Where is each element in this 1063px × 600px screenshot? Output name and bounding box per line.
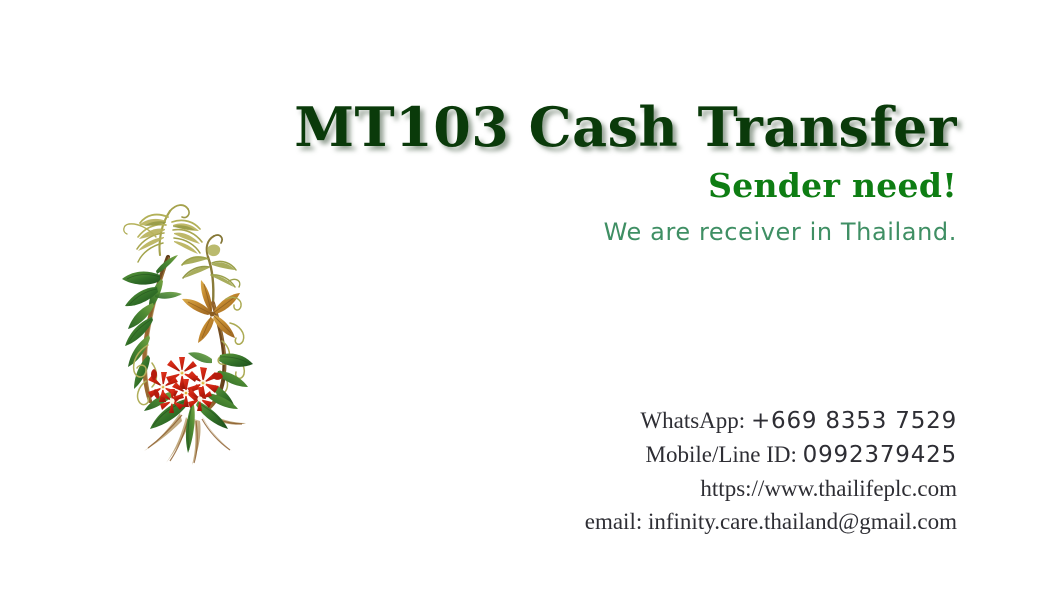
page-title: MT103 Cash Transfer [260, 96, 957, 158]
contact-line-website: https://www.thailifeplc.com [480, 472, 957, 505]
contact-details: WhatsApp: +669 8353 7529 Mobile/Line ID:… [480, 404, 957, 538]
whatsapp-number[interactable]: +669 8353 7529 [751, 408, 957, 434]
left-leaf-cluster [122, 255, 182, 389]
contact-line-whatsapp: WhatsApp: +669 8353 7529 [480, 404, 957, 438]
page-subtitle: Sender need! [260, 166, 957, 206]
business-card-canvas: MT103 Cash Transfer Sender need! We are … [0, 0, 1063, 600]
contact-line-email: email: infinity.care.thailand@gmail.com [480, 505, 957, 538]
upper-tendrils [124, 205, 202, 262]
whatsapp-label: WhatsApp: [640, 408, 745, 433]
page-tagline: We are receiver in Thailand. [260, 217, 957, 247]
seed-pod [207, 244, 220, 256]
contact-line-mobile: Mobile/Line ID: 0992379425 [480, 438, 957, 472]
mobile-line-id-number[interactable]: 0992379425 [803, 442, 957, 468]
email-label: email: [585, 509, 642, 534]
autumn-star-leaf [182, 280, 240, 343]
mobile-line-id-label: Mobile/Line ID: [646, 442, 797, 467]
floral-wreath-illustration [108, 195, 262, 473]
heading-block: MT103 Cash Transfer Sender need! We are … [260, 96, 957, 247]
email-address[interactable]: infinity.care.thailand@gmail.com [648, 509, 957, 534]
website-link[interactable]: https://www.thailifeplc.com [700, 476, 957, 501]
